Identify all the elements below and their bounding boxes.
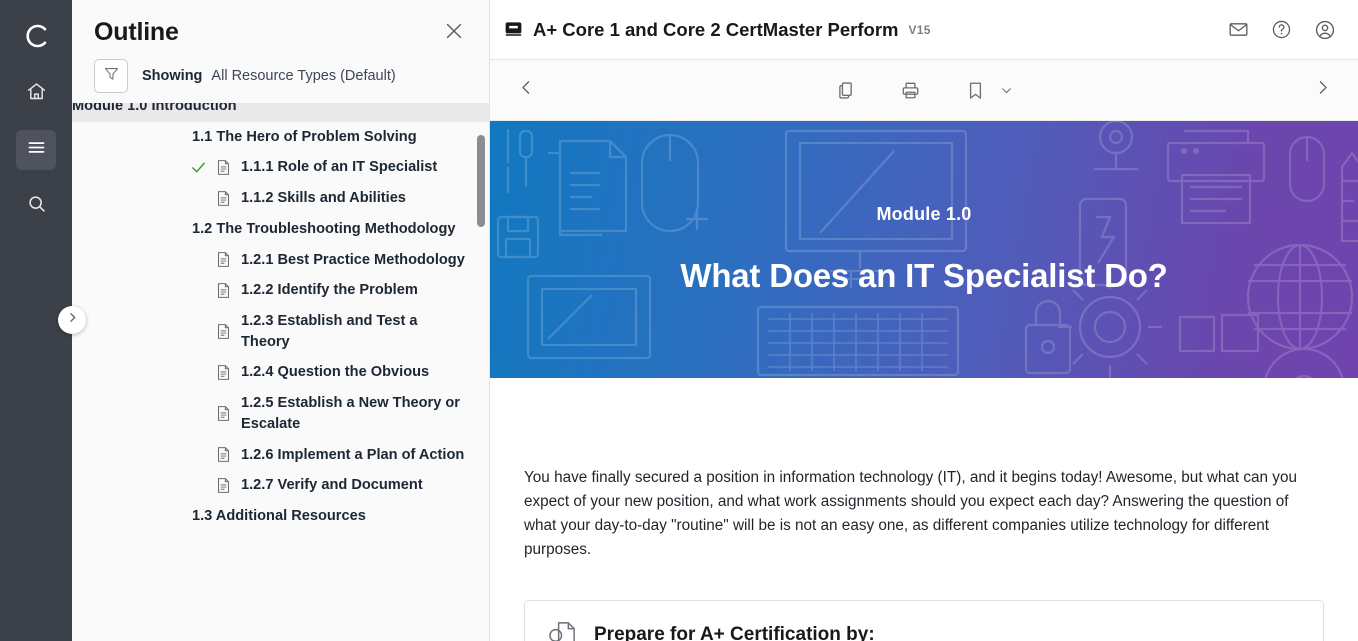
document-icon <box>212 282 234 299</box>
outline-panel: Outline Showing All Resource Types (Defa… <box>72 0 490 641</box>
outline-item-topic[interactable]: 1.2.6 Implement a Plan of Action <box>72 440 489 471</box>
filter-button[interactable] <box>94 59 128 93</box>
outline-item-label: 1.2.6 Implement a Plan of Action <box>241 445 464 466</box>
outline-item-label: 1.2.7 Verify and Document <box>241 475 423 496</box>
chevron-right-icon <box>66 311 79 329</box>
outline-item-label: 1.1.2 Skills and Abilities <box>241 188 406 209</box>
help-circle-icon[interactable] <box>1271 19 1292 40</box>
outline-item-label: 1.3 Additional Resources <box>192 506 366 527</box>
document-icon <box>212 251 234 268</box>
body-wrapper: You have finally secured a position in i… <box>490 466 1358 641</box>
toolbar-actions <box>490 80 1358 101</box>
outline-scrollbar-thumb[interactable] <box>477 135 485 227</box>
rail-item-outline-menu[interactable] <box>16 130 56 170</box>
product-title-group: A+ Core 1 and Core 2 CertMaster Perform … <box>504 19 1228 41</box>
hero-title: What Does an IT Specialist Do? <box>680 257 1167 295</box>
page-title: A+ Core 1 and Core 2 CertMaster Perform <box>533 19 899 41</box>
next-page-button[interactable] <box>1300 79 1344 101</box>
filter-funnel-icon <box>103 65 120 87</box>
chevron-right-icon <box>1314 79 1331 101</box>
document-icon <box>212 446 234 463</box>
outline-list: Module 1.0 Introduction1.1 The Hero of P… <box>72 103 489 532</box>
outline-item-topic[interactable]: 1.2.1 Best Practice Methodology <box>72 245 489 276</box>
document-icon <box>212 405 234 422</box>
main-area: A+ Core 1 and Core 2 CertMaster Perform … <box>490 0 1358 641</box>
outline-item-section[interactable]: 1.3 Additional Resources <box>72 501 489 532</box>
chevron-left-icon <box>518 79 535 101</box>
previous-page-button[interactable] <box>504 79 548 101</box>
outline-scrollbar-track[interactable] <box>477 103 485 641</box>
expand-rail-button[interactable] <box>58 306 86 334</box>
prepare-callout-header: Prepare for A+ Certification by: <box>547 619 1301 641</box>
bookmark-icon[interactable] <box>965 80 986 101</box>
outline-item-topic[interactable]: 1.2.3 Establish and Test a Theory <box>72 306 489 357</box>
document-icon <box>212 477 234 494</box>
outline-item-section[interactable]: 1.1 The Hero of Problem Solving <box>72 122 489 153</box>
outline-item-topic[interactable]: 1.2.7 Verify and Document <box>72 470 489 501</box>
print-icon[interactable] <box>900 80 921 101</box>
outline-header: Outline <box>72 0 489 53</box>
comptia-c-logo-icon[interactable] <box>14 14 58 58</box>
outline-item-topic[interactable]: 1.1.2 Skills and Abilities <box>72 183 489 214</box>
outline-item-module[interactable]: Module 1.0 Introduction <box>72 103 489 122</box>
version-badge: V15 <box>909 23 931 37</box>
outline-title: Outline <box>94 18 179 47</box>
menu-icon <box>26 137 47 163</box>
home-icon <box>26 81 47 107</box>
prepare-callout-title: Prepare for A+ Certification by: <box>594 624 875 641</box>
header-icon-group <box>1228 19 1336 41</box>
chevron-down-icon[interactable] <box>1000 84 1013 97</box>
app-header: A+ Core 1 and Core 2 CertMaster Perform … <box>490 0 1358 60</box>
document-toolbar <box>490 60 1358 121</box>
document-icon <box>212 159 234 176</box>
left-rail <box>0 0 72 641</box>
close-icon <box>443 29 465 46</box>
outline-item-label: 1.2 The Troubleshooting Methodology <box>192 219 456 240</box>
filter-row: Showing All Resource Types (Default) <box>72 53 489 103</box>
hero-module-label: Module 1.0 <box>876 204 971 225</box>
outline-item-label: 1.1 The Hero of Problem Solving <box>192 127 417 148</box>
outline-scroll-region: Module 1.0 Introduction1.1 The Hero of P… <box>72 103 489 641</box>
app-root: Outline Showing All Resource Types (Defa… <box>0 0 1358 641</box>
completed-check-icon <box>184 159 212 176</box>
outline-item-label: Module 1.0 Introduction <box>72 103 237 117</box>
monitor-icon <box>504 20 523 39</box>
rail-item-search[interactable] <box>16 186 56 226</box>
copy-icon[interactable] <box>835 80 856 101</box>
prepare-callout-box: Prepare for A+ Certification by: Describ… <box>524 600 1324 641</box>
outline-item-label: 1.1.1 Role of an IT Specialist <box>241 157 437 178</box>
outline-item-label: 1.2.1 Best Practice Methodology <box>241 250 465 271</box>
hero-banner: Module 1.0 What Does an IT Specialist Do… <box>490 121 1358 378</box>
outline-item-label: 1.2.2 Identify the Problem <box>241 280 418 301</box>
hero-tech-pattern <box>490 121 1358 378</box>
outline-item-topic[interactable]: 1.2.5 Establish a New Theory or Escalate <box>72 388 489 439</box>
user-account-icon[interactable] <box>1314 19 1336 41</box>
intro-paragraph: You have finally secured a position in i… <box>524 466 1324 562</box>
rail-item-home[interactable] <box>16 74 56 114</box>
outline-item-label: 1.2.3 Establish and Test a Theory <box>241 311 469 352</box>
outline-item-label: 1.2.4 Question the Obvious <box>241 362 429 383</box>
showing-label: Showing <box>142 68 202 84</box>
search-icon <box>26 193 47 219</box>
outline-item-topic[interactable]: 1.1.1 Role of an IT Specialist <box>72 152 489 183</box>
document-icon <box>212 190 234 207</box>
document-icon <box>212 323 234 340</box>
outline-item-section[interactable]: 1.2 The Troubleshooting Methodology <box>72 214 489 245</box>
outline-item-topic[interactable]: 1.2.4 Question the Obvious <box>72 357 489 388</box>
document-icon <box>212 364 234 381</box>
certificate-icon <box>547 619 578 641</box>
document-content: Module 1.0 What Does an IT Specialist Do… <box>490 121 1358 641</box>
mail-icon[interactable] <box>1228 19 1249 40</box>
showing-value[interactable]: All Resource Types (Default) <box>211 68 395 84</box>
outline-item-topic[interactable]: 1.2.2 Identify the Problem <box>72 275 489 306</box>
close-outline-button[interactable] <box>441 18 467 44</box>
outline-item-label: 1.2.5 Establish a New Theory or Escalate <box>241 393 469 434</box>
